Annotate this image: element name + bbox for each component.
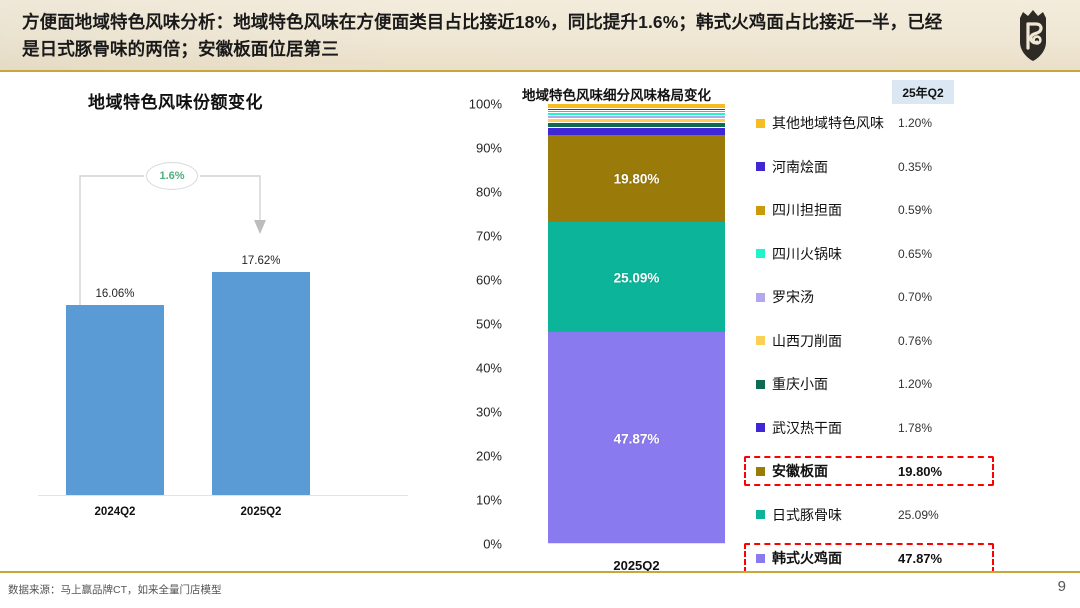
legend-row[interactable]: 重庆小面1.20%	[746, 369, 992, 399]
y-tick-50: 50%	[476, 317, 502, 332]
bar-category-2025q2: 2025Q2	[212, 506, 310, 518]
legend-row[interactable]: 罗宋汤0.70%	[746, 282, 992, 312]
legend-swatch-icon	[756, 293, 765, 302]
legend-swatch-icon	[756, 206, 765, 215]
legend-swatch-icon	[756, 162, 765, 171]
y-tick-10: 10%	[476, 493, 502, 508]
left-chart-plot: 1.6% 16.06% 2024Q2 17.62% 2025Q2	[30, 124, 420, 534]
legend-item-value: 1.20%	[898, 116, 932, 130]
legend-swatch-icon	[756, 423, 765, 432]
legend-item-label: 安徽板面	[772, 461, 828, 481]
legend-row[interactable]: 四川火锅味0.65%	[746, 239, 992, 269]
legend-item-label: 罗宋汤	[772, 287, 814, 307]
legend-swatch-icon	[756, 380, 765, 389]
left-chart-title: 地域特色风味份额变化	[88, 88, 263, 113]
page-number: 9	[1058, 578, 1066, 595]
stack-segment-5	[548, 118, 725, 121]
legend-item-label: 四川火锅味	[772, 244, 842, 264]
legend-item-label: 四川担担面	[772, 200, 842, 220]
stack-segment-10	[548, 103, 725, 108]
legend-row[interactable]: 四川担担面0.59%	[746, 195, 992, 225]
y-tick-60: 60%	[476, 273, 502, 288]
legend-swatch-icon	[756, 336, 765, 345]
y-tick-100: 100%	[469, 97, 502, 112]
legend-swatch-icon	[756, 249, 765, 258]
legend-row[interactable]: 山西刀削面0.76%	[746, 326, 992, 356]
bar-value-2024q2: 16.06%	[66, 288, 164, 300]
legend-row[interactable]: 韩式火鸡面47.87%	[744, 543, 994, 573]
legend-item-value: 19.80%	[898, 464, 942, 479]
legend-column-header: 25年Q2	[892, 80, 954, 104]
mid-chart-plot: 100%90%80%70%60%50%40%30%20%10%0% 47.87%…	[430, 104, 740, 544]
stack-segment-8	[548, 110, 725, 113]
legend-item-value: 0.76%	[898, 334, 932, 348]
legend-table: 25年Q2 其他地域特色风味1.20%河南烩面0.35%四川担担面0.59%四川…	[742, 76, 1072, 576]
y-tick-0: 0%	[483, 537, 502, 552]
stack-segment-7	[548, 112, 725, 115]
bar-category-2024q2: 2024Q2	[66, 506, 164, 518]
y-tick-70: 70%	[476, 229, 502, 244]
growth-badge: 1.6%	[146, 162, 198, 190]
bar-2024q2	[66, 305, 164, 495]
legend-item-value: 0.65%	[898, 247, 932, 261]
mid-chart-title: 地域特色风味细分风味格局变化	[522, 84, 711, 104]
legend-row[interactable]: 安徽板面19.80%	[744, 456, 994, 486]
slide-page: 方便面地域特色风味分析：地域特色风味在方便面类目占比接近18%，同比提升1.6%…	[0, 0, 1080, 608]
legend-item-label: 日式豚骨味	[772, 505, 842, 525]
legend-row[interactable]: 武汉热干面1.78%	[746, 413, 992, 443]
legend-row[interactable]: 河南烩面0.35%	[746, 152, 992, 182]
y-tick-90: 90%	[476, 141, 502, 156]
legend-item-value: 1.78%	[898, 421, 932, 435]
bar-value-2025q2: 17.62%	[212, 255, 310, 267]
legend-item-label: 武汉热干面	[772, 418, 842, 438]
legend-swatch-icon	[756, 510, 765, 519]
stack-segment-label-2: 19.80%	[548, 172, 725, 187]
flavor-breakdown-chart-panel: 地域特色风味细分风味格局变化 100%90%80%70%60%50%40%30%…	[430, 76, 740, 576]
legend-swatch-icon	[756, 467, 765, 476]
legend-item-label: 山西刀削面	[772, 331, 842, 351]
legend-item-label: 重庆小面	[772, 374, 828, 394]
y-tick-20: 20%	[476, 449, 502, 464]
left-chart-axis	[38, 495, 408, 496]
share-change-chart-panel: 地域特色风味份额变化 1.6% 16.06% 2024Q2 17.62% 202…	[10, 76, 430, 564]
stacked-bar-2025q2: 47.87%25.09%19.80%	[548, 104, 725, 544]
legend-item-value: 0.35%	[898, 160, 932, 174]
legend-item-value: 0.70%	[898, 290, 932, 304]
page-title: 方便面地域特色风味分析：地域特色风味在方便面类目占比接近18%，同比提升1.6%…	[22, 9, 952, 63]
slide-footer: 数据来源：马上赢品牌CT，如来全量门店模型 9	[0, 573, 1080, 608]
y-tick-40: 40%	[476, 361, 502, 376]
legend-swatch-icon	[756, 119, 765, 128]
legend-item-value: 25.09%	[898, 508, 939, 522]
stack-segment-4	[548, 122, 725, 127]
bar-2025q2	[212, 272, 310, 495]
legend-item-value: 1.20%	[898, 377, 932, 391]
legend-row[interactable]: 其他地域特色风味1.20%	[746, 108, 992, 138]
legend-row[interactable]: 日式豚骨味25.09%	[746, 500, 992, 530]
stack-segment-6	[548, 115, 725, 118]
legend-item-label: 韩式火鸡面	[772, 548, 842, 568]
stack-segment-label-0: 47.87%	[548, 431, 725, 446]
stack-segment-label-1: 25.09%	[548, 271, 725, 286]
shield-crown-logo	[1006, 6, 1066, 66]
legend-item-value: 0.59%	[898, 203, 932, 217]
y-tick-30: 30%	[476, 405, 502, 420]
legend-swatch-icon	[756, 554, 765, 563]
y-tick-80: 80%	[476, 185, 502, 200]
slide-header: 方便面地域特色风味分析：地域特色风味在方便面类目占比接近18%，同比提升1.6%…	[0, 0, 1080, 72]
data-source-note: 数据来源：马上赢品牌CT，如来全量门店模型	[8, 582, 222, 597]
stack-segment-9	[548, 108, 725, 110]
stack-segment-3	[548, 127, 725, 135]
legend-item-label: 河南烩面	[772, 157, 828, 177]
legend-item-label: 其他地域特色风味	[772, 113, 884, 133]
legend-item-value: 47.87%	[898, 551, 942, 566]
